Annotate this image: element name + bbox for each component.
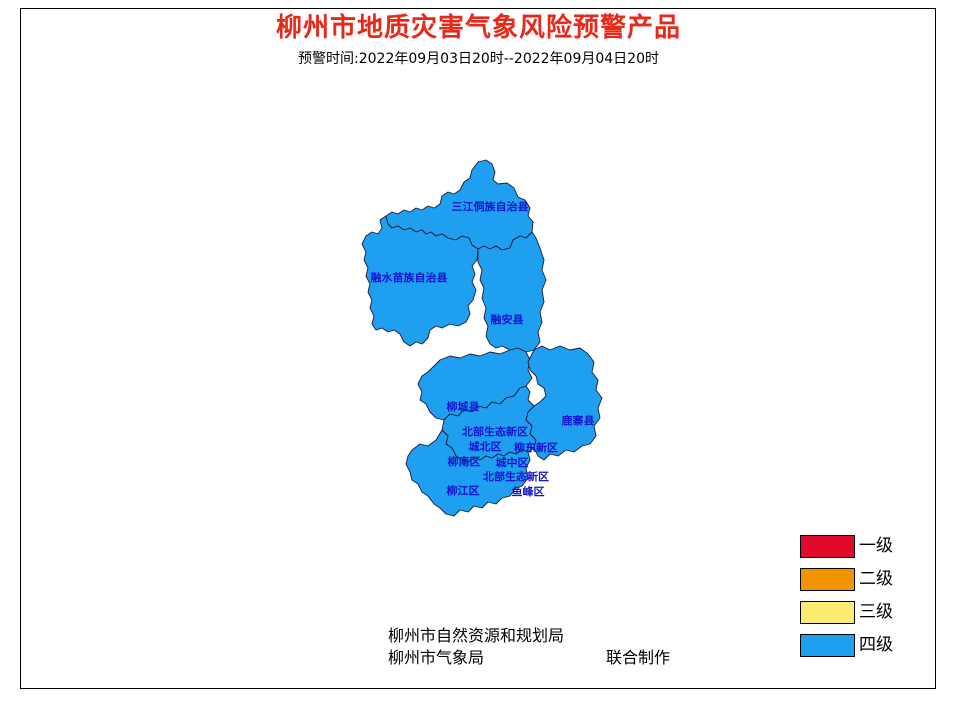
map-label-liudong-new-district: 柳东新区 [514, 443, 558, 454]
map-label-chengzhong: 城中区 [496, 458, 529, 469]
legend-label-level-4: 四级 [859, 637, 893, 654]
footer-organization-resources: 柳州市自然资源和规划局 [388, 626, 564, 645]
legend-swatch-level-2 [800, 568, 855, 591]
map-label-liucheng: 柳城县 [447, 402, 480, 413]
page-footer: 柳州市自然资源和规划局 柳州市气象局 联合制作 [388, 624, 564, 668]
map-label-rongan: 融安县 [491, 315, 524, 326]
page-header: 柳州市地质灾害气象风险预警产品 预警时间:2022年09月03日20时--202… [0, 14, 957, 68]
warning-time-subtitle: 预警时间:2022年09月03日20时--2022年09月04日20时 [0, 48, 957, 68]
map-label-liujiang: 柳江区 [447, 486, 480, 497]
map-label-chengbei: 城北区 [469, 442, 502, 453]
map-label-beibu-ecological-new-district-1: 北部生态新区 [462, 427, 528, 438]
legend-swatch-level-1 [800, 535, 855, 558]
risk-level-legend: 一级 二级 三级 四级 [800, 530, 910, 662]
legend-swatch-level-4 [800, 634, 855, 657]
region-rongan[interactable] [478, 232, 546, 352]
legend-label-level-2: 二级 [859, 571, 893, 588]
footer-line-1: 柳州市自然资源和规划局 [388, 624, 564, 646]
footer-joint-production: 联合制作 [606, 646, 670, 669]
map-label-sanjiang: 三江侗族自治县 [452, 202, 529, 213]
footer-line-2: 柳州市气象局 联合制作 [388, 646, 564, 668]
legend-row-level-2: 二级 [800, 563, 910, 596]
map-label-yufeng: 鱼峰区 [512, 487, 545, 498]
map-label-luzhai: 鹿寨县 [562, 416, 595, 427]
liuzhou-risk-map: 三江侗族自治县 融水苗族自治县 融安县 柳城县 鹿寨县 北部生态新区 城北区 柳… [330, 150, 630, 550]
map-label-beibu-ecological-new-district-2: 北部生态新区 [483, 472, 549, 483]
legend-row-level-3: 三级 [800, 596, 910, 629]
map-label-rongshui: 融水苗族自治县 [371, 273, 448, 284]
legend-row-level-1: 一级 [800, 530, 910, 563]
footer-organization-meteorology: 柳州市气象局 [388, 648, 484, 667]
legend-row-level-4: 四级 [800, 629, 910, 662]
map-label-liunan: 柳南区 [448, 457, 481, 468]
warning-product-page: 柳州市地质灾害气象风险预警产品 预警时间:2022年09月03日20时--202… [0, 0, 957, 702]
legend-label-level-1: 一级 [859, 538, 893, 555]
legend-swatch-level-3 [800, 601, 855, 624]
legend-label-level-3: 三级 [859, 604, 893, 621]
page-title: 柳州市地质灾害气象风险预警产品 [0, 14, 957, 44]
